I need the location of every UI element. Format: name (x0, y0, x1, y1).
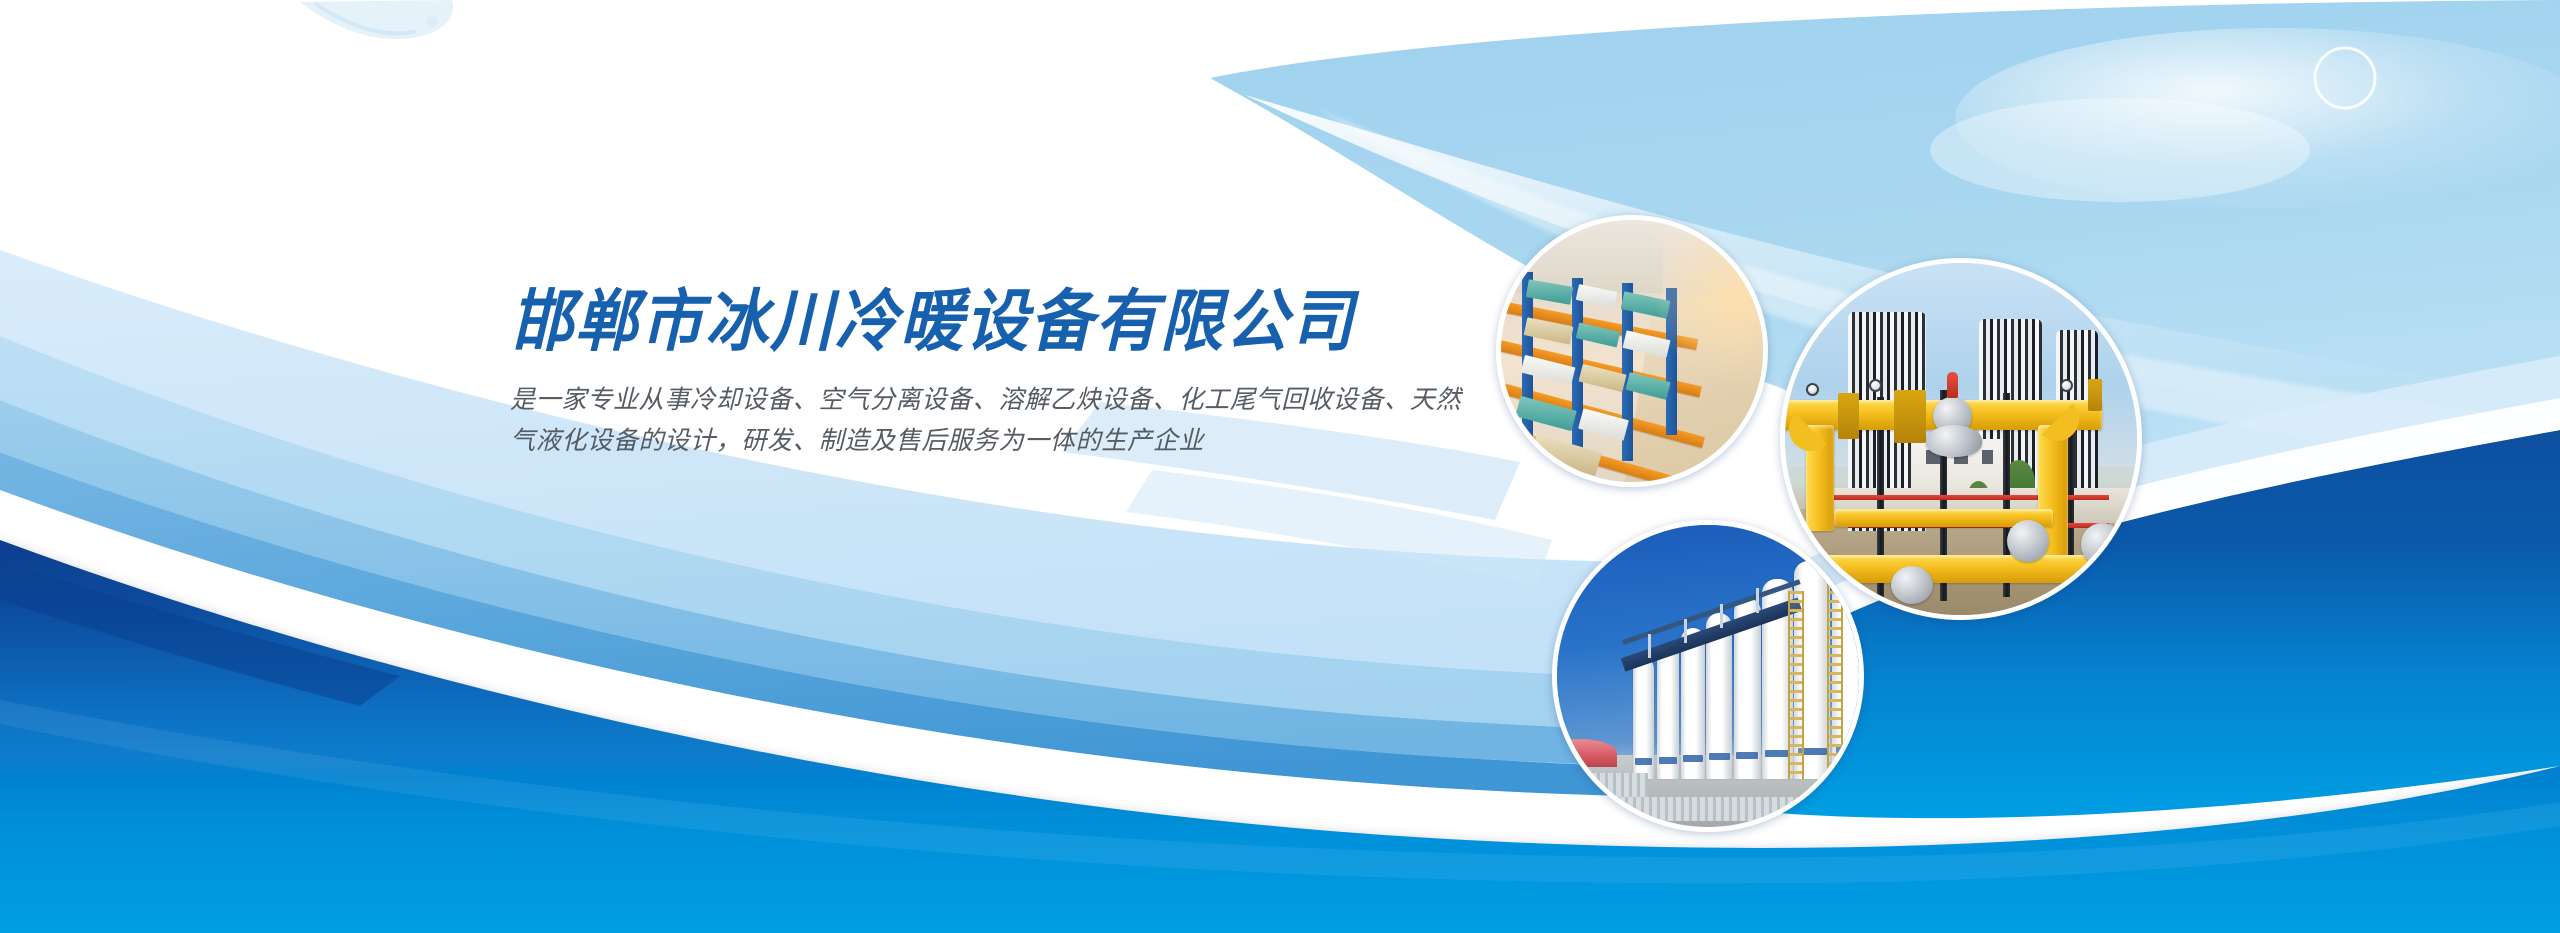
pressure-gauge (1806, 383, 1819, 396)
cryogenic-tank (1633, 658, 1654, 779)
handrail-post (1684, 619, 1687, 643)
warehouse-light-glow (1650, 236, 1763, 388)
hero-text-block: 邯郸市冰川冷暖设备有限公司 是一家专业从事冷却设备、空气分离设备、溶解乙炔设备、… (510, 288, 1510, 462)
company-title: 邯郸市冰川冷暖设备有限公司 (510, 288, 1510, 358)
gas-pipeline-photo[interactable] (1780, 258, 2142, 620)
warehouse-scene (1501, 220, 1763, 482)
access-ladder (1788, 591, 1804, 778)
warehouse-photo[interactable] (1496, 215, 1768, 487)
pipe-flange (1838, 393, 1859, 439)
bubble-sheen-right-2 (1930, 98, 2310, 202)
handrail-post (1756, 588, 1759, 612)
control-valve (2007, 520, 2049, 562)
pipe-flange (1894, 390, 1926, 443)
pipe-flange (2088, 379, 2102, 411)
handrail-post (1648, 634, 1651, 658)
company-description: 是一家专业从事冷却设备、空气分离设备、溶解乙炔设备、化工尾气回收设备、天然气液化… (510, 380, 1470, 463)
background-wave-artwork (0, 0, 2560, 933)
red-storage-tank (1557, 739, 1617, 766)
yellow-gas-pipe (1799, 555, 2102, 583)
stored-crate (1531, 434, 1603, 475)
building-window (1982, 450, 1993, 464)
control-valve (1891, 566, 1933, 605)
pipe-rack (1617, 797, 1828, 821)
handrail-post (1720, 604, 1723, 628)
pipe-elbow (1789, 407, 1833, 451)
pipeline-scene (1785, 263, 2137, 615)
pressure-gauge (2060, 379, 2073, 392)
relief-valve (1947, 372, 1958, 398)
cryogenic-tank (1657, 643, 1680, 779)
control-valve (1926, 425, 1982, 457)
pipe-elbow (2035, 397, 2079, 441)
company-hero-banner: 邯郸市冰川冷暖设备有限公司 是一家专业从事冷却设备、空气分离设备、溶解乙炔设备、… (0, 0, 2560, 933)
control-valve (2081, 523, 2123, 565)
